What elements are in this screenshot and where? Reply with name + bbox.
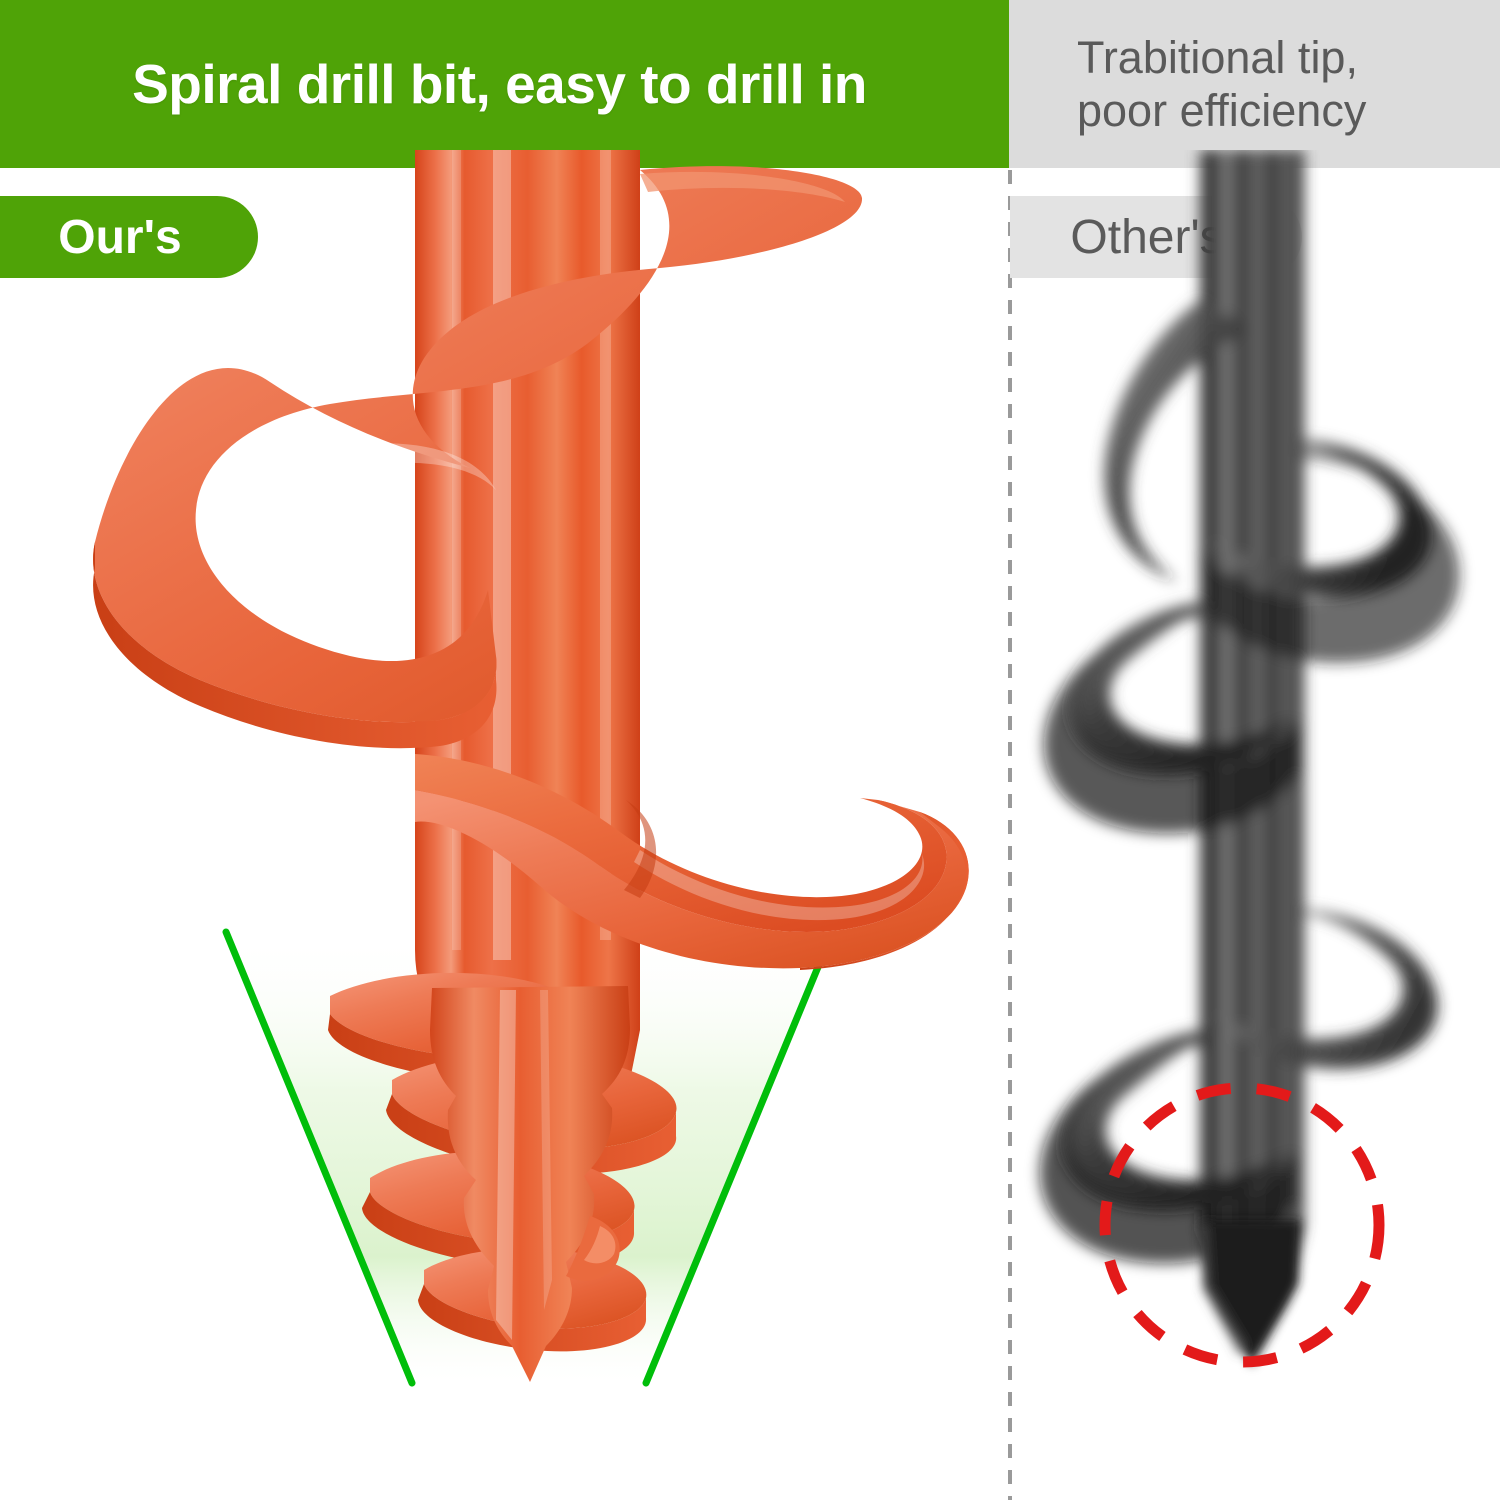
header-banner-others: Trabitional tip, poor efficiency <box>1009 0 1500 168</box>
header-title-others-line2: poor efficiency <box>1077 84 1366 137</box>
header-banner-ours: Spiral drill bit, easy to drill in <box>0 0 1009 168</box>
orange-auger-illustration <box>0 150 1008 1500</box>
left-product-stage <box>0 150 1008 1500</box>
header-title-ours: Spiral drill bit, easy to drill in <box>132 52 867 116</box>
black-auger-tip <box>1200 1220 1300 1366</box>
comparison-infographic: Spiral drill bit, easy to drill in Trabi… <box>0 0 1500 1500</box>
header-title-others-line1: Trabitional tip, <box>1077 31 1358 84</box>
right-product-stage <box>1012 150 1500 1500</box>
black-auger-body <box>1040 150 1460 1350</box>
black-auger-illustration <box>1012 150 1500 1500</box>
